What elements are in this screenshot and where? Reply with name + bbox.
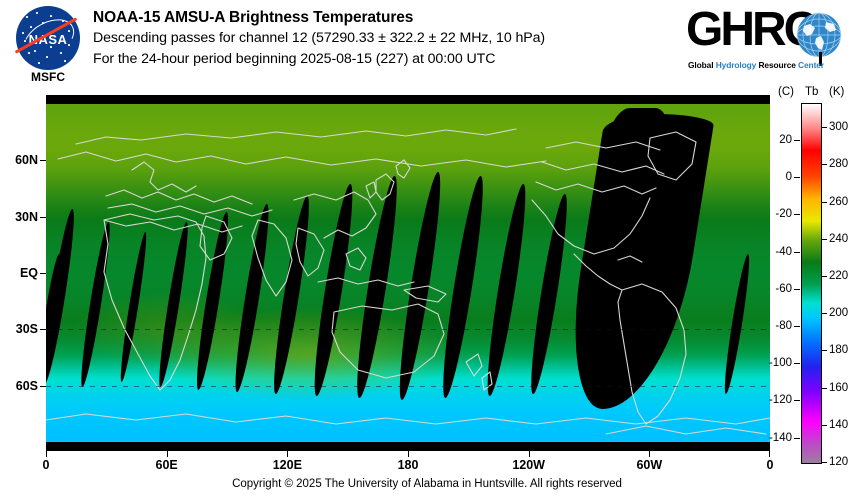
colorbar-label-celsius: -120 bbox=[769, 394, 792, 406]
colorbar-tick-celsius bbox=[794, 140, 800, 141]
longitude-tick-label: 60E bbox=[156, 458, 178, 472]
colorbar-label-celsius: -140 bbox=[769, 432, 792, 444]
graticule-line bbox=[46, 329, 770, 330]
star-icon bbox=[46, 56, 48, 58]
longitude-tick bbox=[287, 451, 288, 457]
star-icon bbox=[62, 20, 64, 22]
star-icon bbox=[42, 22, 44, 24]
descending-node-arrow-icon bbox=[413, 86, 461, 95]
longitude-tick-label: 0 bbox=[43, 458, 50, 472]
copyright-notice: Copyright © 2025 The University of Alaba… bbox=[0, 478, 854, 490]
latitude-tick bbox=[40, 386, 46, 387]
colorbar-tick-celsius bbox=[794, 214, 800, 215]
colorbar-unit-tb: Tb bbox=[805, 86, 818, 98]
brightness-temperature-map bbox=[46, 104, 770, 442]
ghrc-subtitle-word: Center bbox=[798, 60, 824, 70]
colorbar-tick-celsius bbox=[794, 177, 800, 178]
colorbar-tick-kelvin bbox=[821, 388, 827, 389]
subtitle-channel: Descending passes for channel 12 (57290.… bbox=[93, 28, 683, 49]
longitude-tick bbox=[46, 451, 47, 457]
star-icon bbox=[36, 12, 38, 14]
latitude-tick-label: EQ bbox=[20, 266, 38, 280]
latitude-tick bbox=[40, 160, 46, 161]
longitude-tick-label: 120W bbox=[512, 458, 545, 472]
colorbar-tick-kelvin bbox=[821, 239, 827, 240]
colorbar-label-celsius: -60 bbox=[775, 283, 792, 295]
colorbar-tick-kelvin bbox=[821, 276, 827, 277]
star-icon bbox=[24, 40, 26, 42]
star-icon bbox=[68, 30, 70, 32]
star-icon bbox=[26, 16, 28, 18]
colorbar-label-kelvin: 240 bbox=[829, 233, 848, 245]
latitude-tick-label: 60S bbox=[16, 379, 38, 393]
latitude-tick-label: 60N bbox=[15, 153, 38, 167]
page-title: NOAA-15 AMSU-A Brightness Temperatures bbox=[93, 8, 683, 28]
ghrc-subtitle-word: Global bbox=[688, 60, 716, 70]
colorbar-tick-celsius bbox=[794, 326, 800, 327]
ghrc-logo: GHRC Global Hydrology Resource Center bbox=[686, 8, 844, 74]
title-block: NOAA-15 AMSU-A Brightness Temperatures D… bbox=[93, 8, 683, 70]
star-icon bbox=[28, 52, 30, 54]
colorbar-tick-celsius bbox=[794, 252, 800, 253]
nasa-logo: NASA MSFC bbox=[12, 6, 86, 84]
colorbar-tick-celsius bbox=[794, 400, 800, 401]
graticule-line bbox=[46, 386, 770, 387]
nasa-center-label: MSFC bbox=[12, 70, 84, 84]
ghrc-subtitle: Global Hydrology Resource Center bbox=[688, 60, 824, 70]
ghrc-subtitle-word: Hydrology bbox=[716, 60, 759, 70]
longitude-tick bbox=[167, 451, 168, 457]
star-icon bbox=[22, 32, 24, 34]
star-icon bbox=[60, 52, 62, 54]
colorbar-tick-kelvin bbox=[821, 202, 827, 203]
colorbar-label-kelvin: 140 bbox=[829, 419, 848, 431]
colorbar-tick-kelvin bbox=[821, 313, 827, 314]
latitude-tick bbox=[40, 329, 46, 330]
colorbar-label-kelvin: 120 bbox=[829, 456, 848, 468]
star-icon bbox=[68, 44, 70, 46]
star-icon bbox=[30, 26, 32, 28]
colorbar-label-kelvin: 180 bbox=[829, 344, 848, 356]
colorbar-tick-celsius bbox=[794, 438, 800, 439]
graticule-layer bbox=[46, 104, 770, 442]
latitude-tick bbox=[40, 217, 46, 218]
colorbar-unit-celsius: (C) bbox=[778, 86, 794, 98]
longitude-tick-label: 0 bbox=[767, 458, 774, 472]
longitude-tick bbox=[769, 451, 770, 457]
colorbar-label-kelvin: 160 bbox=[829, 382, 848, 394]
colorbar-label-celsius: -40 bbox=[775, 246, 792, 258]
colorbar-label-kelvin: 300 bbox=[829, 121, 848, 133]
colorbar-tick-kelvin bbox=[821, 425, 827, 426]
latitude-tick-label: 30N bbox=[15, 210, 38, 224]
colorbar-unit-kelvin: (K) bbox=[829, 86, 844, 98]
colorbar bbox=[801, 103, 822, 464]
colorbar-label-kelvin: 260 bbox=[829, 196, 848, 208]
colorbar-label-celsius: -80 bbox=[775, 320, 792, 332]
colorbar-gradient bbox=[802, 104, 821, 463]
longitude-tick-label: 180 bbox=[398, 458, 419, 472]
colorbar-tick-celsius bbox=[794, 363, 800, 364]
star-icon bbox=[38, 62, 40, 64]
longitude-tick bbox=[529, 451, 530, 457]
map-frame bbox=[46, 95, 770, 451]
colorbar-label-celsius: -20 bbox=[775, 208, 792, 220]
longitude-tick bbox=[408, 451, 409, 457]
longitude-tick-label: 60W bbox=[636, 458, 662, 472]
colorbar-label-celsius: 0 bbox=[786, 171, 792, 183]
latitude-tick bbox=[40, 273, 46, 274]
colorbar-label-kelvin: 280 bbox=[829, 158, 848, 170]
star-icon bbox=[50, 46, 52, 48]
colorbar-label-celsius: 20 bbox=[779, 134, 792, 146]
colorbar-tick-kelvin bbox=[821, 164, 827, 165]
colorbar-label-celsius: -100 bbox=[769, 357, 792, 369]
latitude-tick-label: 30S bbox=[16, 322, 38, 336]
colorbar-tick-kelvin bbox=[821, 462, 827, 463]
colorbar-tick-kelvin bbox=[821, 127, 827, 128]
subtitle-period: For the 24-hour period beginning 2025-08… bbox=[93, 49, 683, 70]
star-icon bbox=[64, 60, 66, 62]
nasa-meatball-icon: NASA bbox=[16, 6, 80, 70]
star-icon bbox=[50, 15, 52, 17]
star-icon bbox=[34, 50, 36, 52]
longitude-tick-label: 120E bbox=[273, 458, 302, 472]
colorbar-tick-kelvin bbox=[821, 350, 827, 351]
longitude-tick bbox=[649, 451, 650, 457]
colorbar-label-kelvin: 220 bbox=[829, 270, 848, 282]
ghrc-subtitle-word: Resource bbox=[758, 60, 798, 70]
colorbar-tick-celsius bbox=[794, 289, 800, 290]
colorbar-label-kelvin: 200 bbox=[829, 307, 848, 319]
